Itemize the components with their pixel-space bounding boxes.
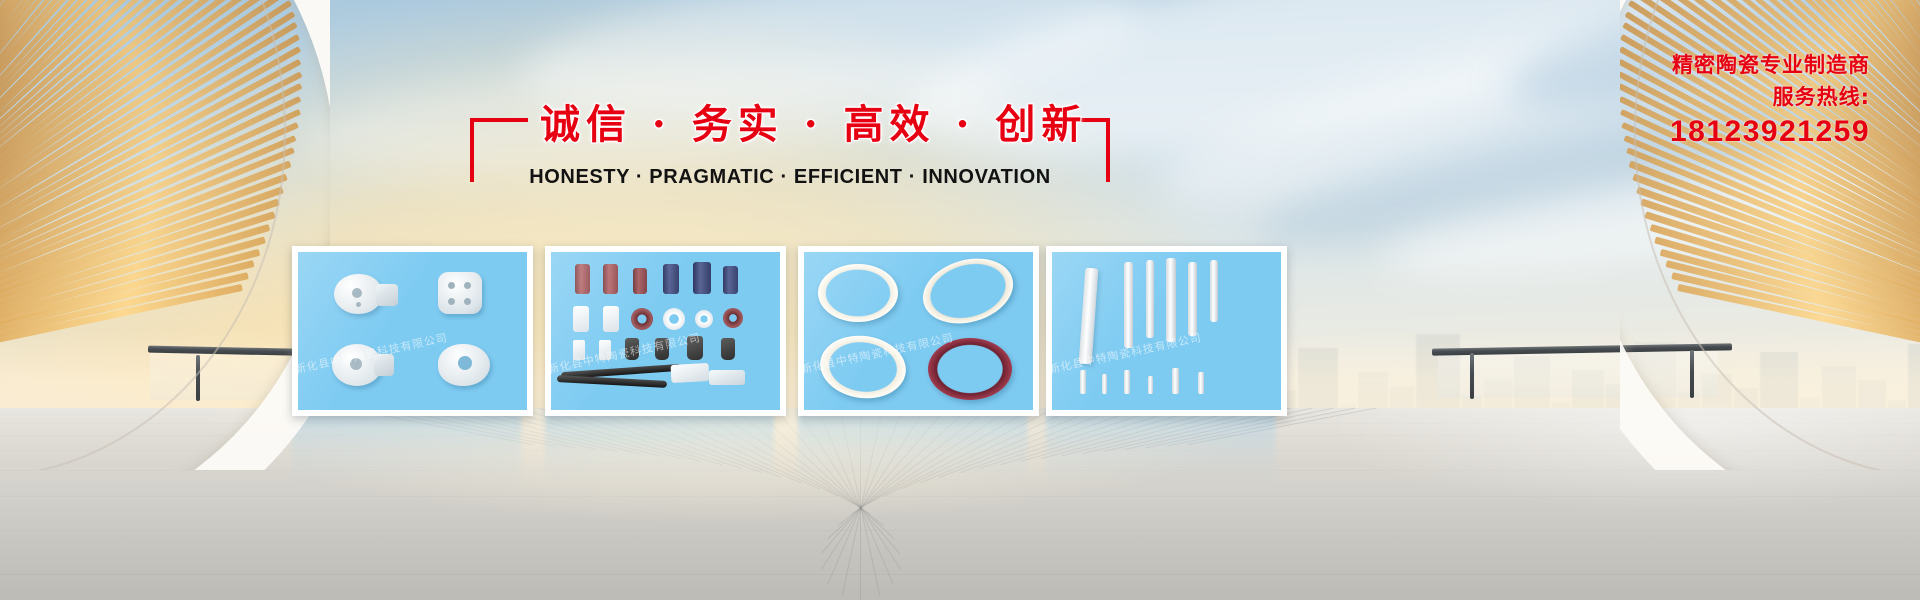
ceramic-sleeve xyxy=(663,264,679,294)
ceramic-ring xyxy=(723,308,743,328)
ceramic-sleeve xyxy=(723,266,738,294)
hotline-number: 18123921259 xyxy=(1670,114,1870,150)
ceramic-rod xyxy=(1079,268,1099,365)
promotional-banner: 诚信 · 务实 · 高效 · 创新 HONESTY · PRAGMATIC · … xyxy=(0,0,1920,600)
panel-shine xyxy=(298,252,527,410)
ceramic-part xyxy=(376,284,398,306)
ceramic-ring-large xyxy=(818,264,898,322)
ceramic-ring xyxy=(695,310,713,328)
ceramic-pin xyxy=(1102,374,1107,394)
ceramic-pin xyxy=(1148,376,1153,394)
metal-terminal xyxy=(625,338,639,360)
ceramic-ring-large xyxy=(816,330,910,403)
ceramic-sleeve xyxy=(633,268,647,294)
company-tagline: 精密陶瓷专业制造商 xyxy=(1670,50,1870,80)
product-panel-4[interactable]: 新化县中特陶瓷科技有限公司 xyxy=(1046,246,1287,416)
seal-ring-red xyxy=(928,338,1012,400)
cable-connector xyxy=(671,363,710,383)
ceramic-terminal xyxy=(573,306,589,332)
product-panel-3[interactable]: 新化县中特陶瓷科技有限公司 xyxy=(798,246,1039,416)
metal-terminal xyxy=(687,336,703,360)
ceramic-pin xyxy=(1124,370,1130,394)
ceramic-pin xyxy=(1198,372,1204,394)
ceramic-rod xyxy=(1210,260,1218,322)
ceramic-hole xyxy=(464,282,471,289)
ceramic-hole xyxy=(350,358,362,370)
railing-post-right xyxy=(1470,353,1474,399)
hotline-label: 服务热线: xyxy=(1670,80,1870,114)
metal-terminal xyxy=(721,338,735,360)
slogan-chinese: 诚信 · 务实 · 高效 · 创新 xyxy=(540,98,1040,152)
ceramic-terminal xyxy=(603,306,619,332)
ceramic-hole xyxy=(352,288,362,298)
ceramic-sleeve xyxy=(603,264,618,294)
ceramic-hole xyxy=(448,282,455,289)
ceramic-ring xyxy=(663,308,685,330)
contact-block: 精密陶瓷专业制造商 服务热线: 18123921259 xyxy=(1670,50,1870,150)
ceramic-rod xyxy=(1124,262,1133,348)
ceramic-terminal xyxy=(573,340,585,360)
left-canopy-structure xyxy=(0,0,330,470)
panel-reflection xyxy=(1046,410,1275,484)
metal-terminal xyxy=(655,338,669,360)
panel-reflection xyxy=(798,410,1027,484)
ceramic-hole xyxy=(458,356,472,370)
product-panel-2[interactable]: 新化县中特陶瓷科技有限公司 xyxy=(545,246,786,416)
cable-connector xyxy=(709,370,745,385)
ceramic-hole xyxy=(356,302,361,307)
slogan-block: 诚信 · 务实 · 高效 · 创新 HONESTY · PRAGMATIC · … xyxy=(470,98,1110,208)
ceramic-ring-large xyxy=(915,249,1021,334)
ceramic-sleeve xyxy=(693,262,711,294)
ceramic-ring xyxy=(631,308,653,330)
ceramic-rod xyxy=(1166,258,1176,342)
ceramic-sleeve xyxy=(575,264,590,294)
ceramic-part xyxy=(438,272,482,314)
ceramic-rod xyxy=(1188,262,1197,336)
ceramic-pin xyxy=(1172,368,1179,394)
ceramic-rod xyxy=(1146,260,1154,338)
ceramic-part xyxy=(374,354,394,376)
product-panel-1[interactable]: 新化县中特陶瓷科技有限公司 xyxy=(292,246,533,416)
ceramic-hole xyxy=(464,298,471,305)
ceramic-terminal xyxy=(599,340,611,360)
panel-reflection xyxy=(545,410,774,484)
cable-assembly xyxy=(557,375,667,388)
slogan-english: HONESTY · PRAGMATIC · EFFICIENT · INNOVA… xyxy=(510,166,1070,189)
ceramic-hole xyxy=(448,298,455,305)
ceramic-pin xyxy=(1080,370,1086,394)
panel-watermark: 新化县中特陶瓷科技有限公司 xyxy=(293,307,533,377)
